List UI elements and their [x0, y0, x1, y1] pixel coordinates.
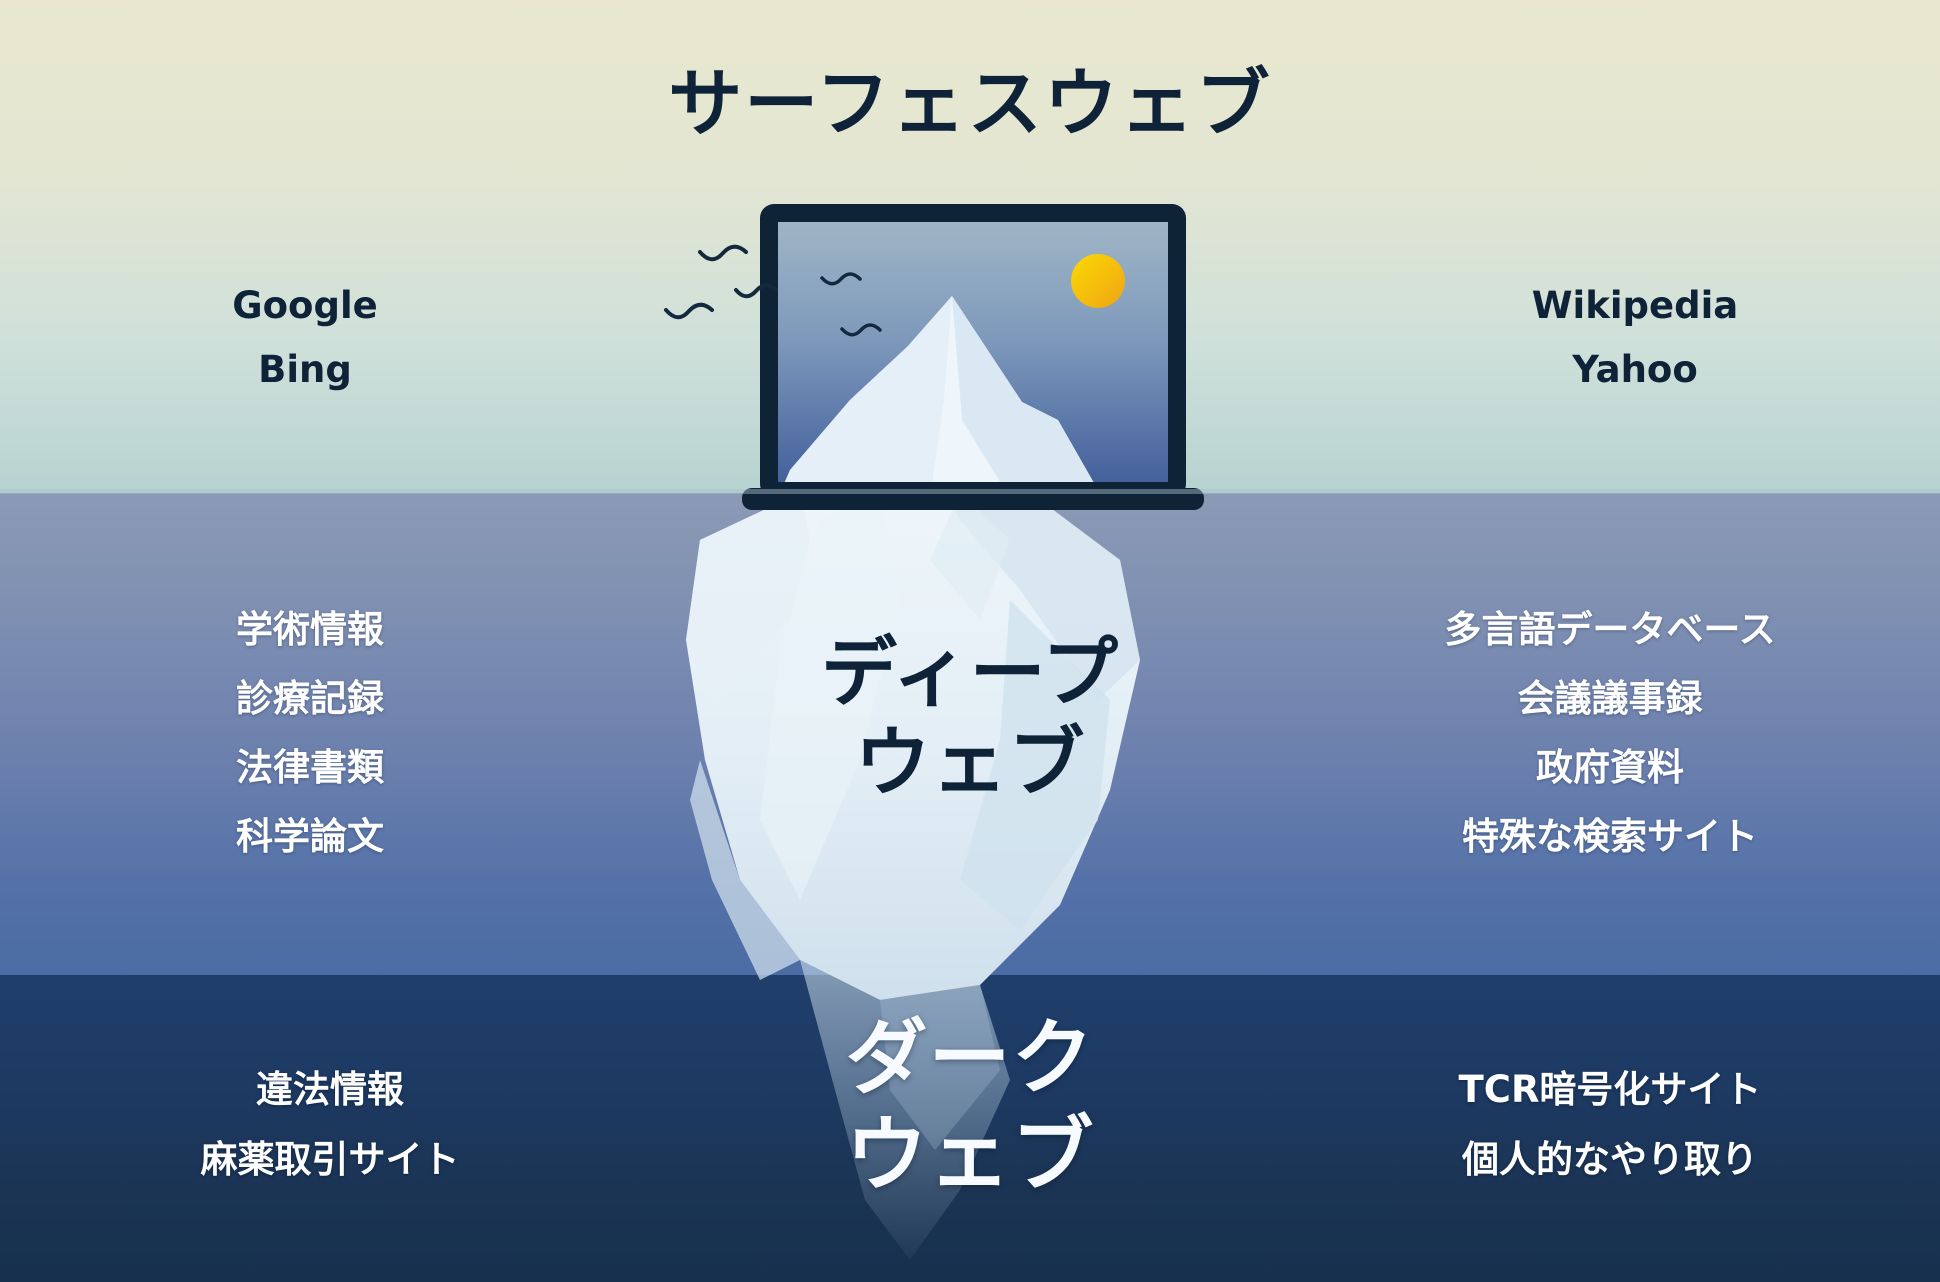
list-item: 麻薬取引サイト — [130, 1136, 530, 1184]
deep-web-label-line1: ディープ — [720, 628, 1220, 718]
list-item: Bing — [140, 346, 470, 394]
list-item: Yahoo — [1470, 346, 1800, 394]
page-title: サーフェスウェブ — [0, 44, 1940, 151]
list-item: 科学論文 — [150, 813, 470, 861]
list-item: 特殊な検索サイト — [1410, 813, 1810, 861]
list-item: 法律書類 — [150, 744, 470, 792]
list-item: 会議議事録 — [1410, 675, 1810, 723]
dark-left-list: 違法情報 麻薬取引サイト — [130, 1066, 530, 1206]
list-item: 診療記録 — [150, 675, 470, 723]
list-item: Google — [140, 282, 470, 330]
deep-web-label-line2: ウェブ — [720, 718, 1220, 808]
list-item: 個人的なやり取り — [1410, 1136, 1810, 1184]
dark-web-label-line2: ウェブ — [740, 1107, 1200, 1204]
deep-left-list: 学術情報 診療記録 法律書類 科学論文 — [150, 606, 470, 882]
list-item: 学術情報 — [150, 606, 470, 654]
dark-web-label-line1: ダーク — [740, 1010, 1200, 1107]
list-item: 多言語データベース — [1410, 606, 1810, 654]
infographic-canvas: サーフェスウェブ Google Bing Wikipedia Yahoo 学術情… — [0, 0, 1940, 1282]
list-item: TCR暗号化サイト — [1410, 1066, 1810, 1114]
surface-right-list: Wikipedia Yahoo — [1470, 282, 1800, 410]
list-item: 違法情報 — [130, 1066, 530, 1114]
surface-left-list: Google Bing — [140, 282, 470, 410]
list-item: 政府資料 — [1410, 744, 1810, 792]
dark-right-list: TCR暗号化サイト 個人的なやり取り — [1410, 1066, 1810, 1206]
deep-right-list: 多言語データベース 会議議事録 政府資料 特殊な検索サイト — [1410, 606, 1810, 882]
deep-web-label: ディープ ウェブ — [720, 628, 1220, 807]
dark-web-label: ダーク ウェブ — [740, 1010, 1200, 1204]
list-item: Wikipedia — [1470, 282, 1800, 330]
